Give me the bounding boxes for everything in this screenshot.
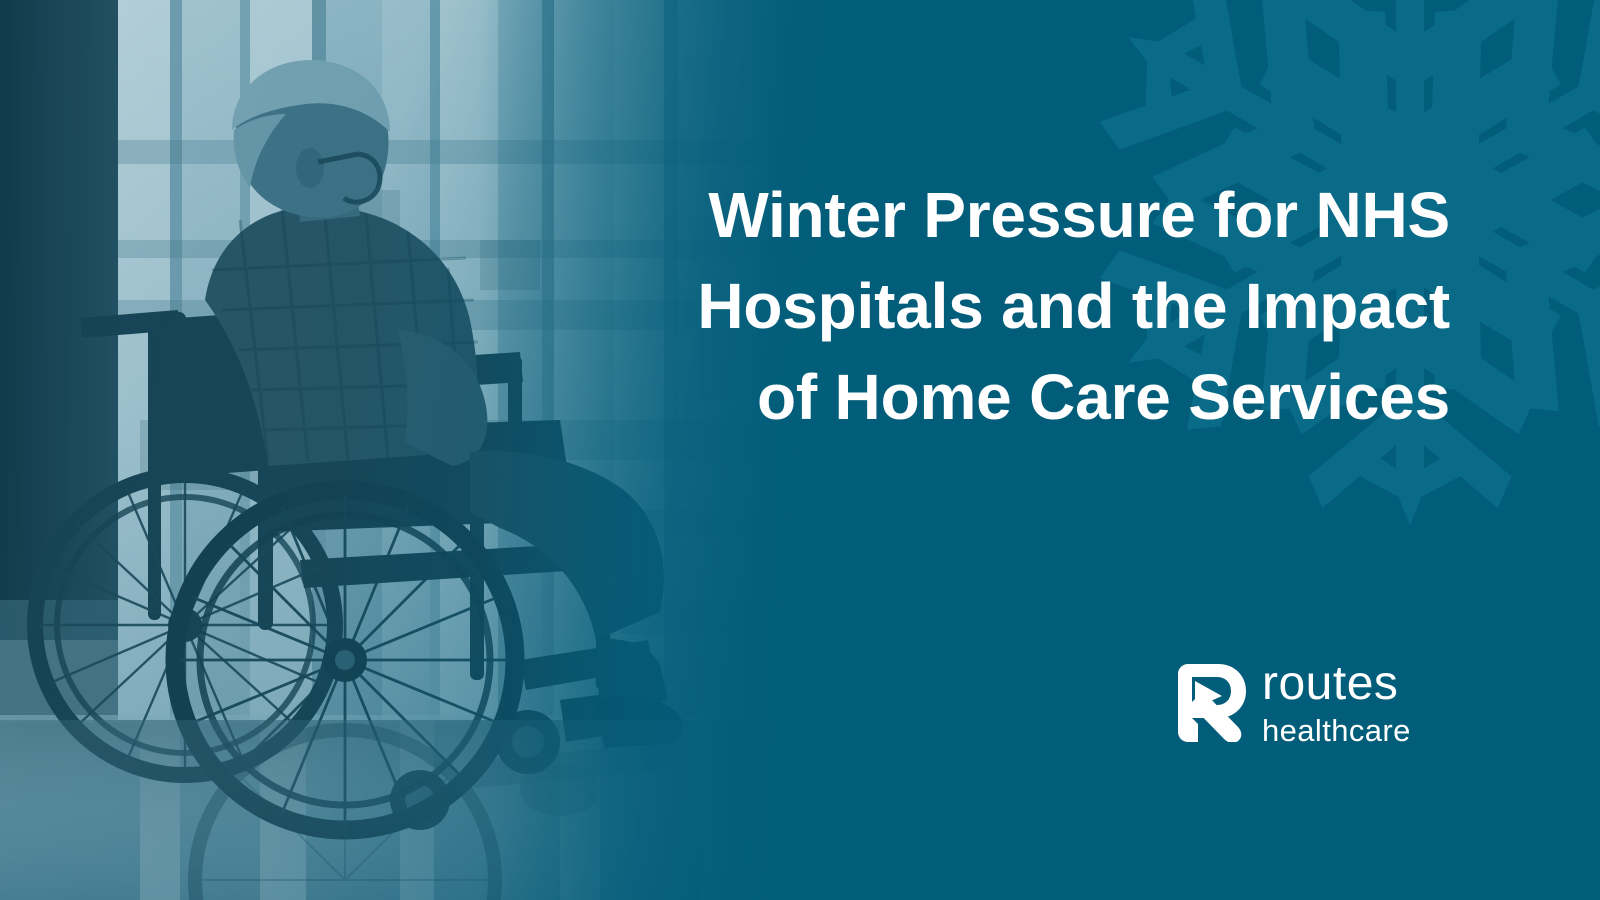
logo-primary-text: routes (1262, 660, 1411, 708)
brand-logo: routes healthcare (1178, 660, 1411, 746)
page-title: Winter Pressure for NHS Hospitals and th… (470, 170, 1450, 443)
title-line-2: Hospitals and the Impact (470, 261, 1450, 352)
routes-r-monogram-icon (1178, 664, 1246, 742)
title-line-1: Winter Pressure for NHS (470, 170, 1450, 261)
title-line-3: of Home Care Services (470, 352, 1450, 443)
logo-secondary-text: healthcare (1262, 715, 1411, 746)
hero-photo (0, 0, 900, 900)
promotional-banner: Winter Pressure for NHS Hospitals and th… (0, 0, 1600, 900)
logo-wordmark: routes healthcare (1262, 660, 1411, 746)
